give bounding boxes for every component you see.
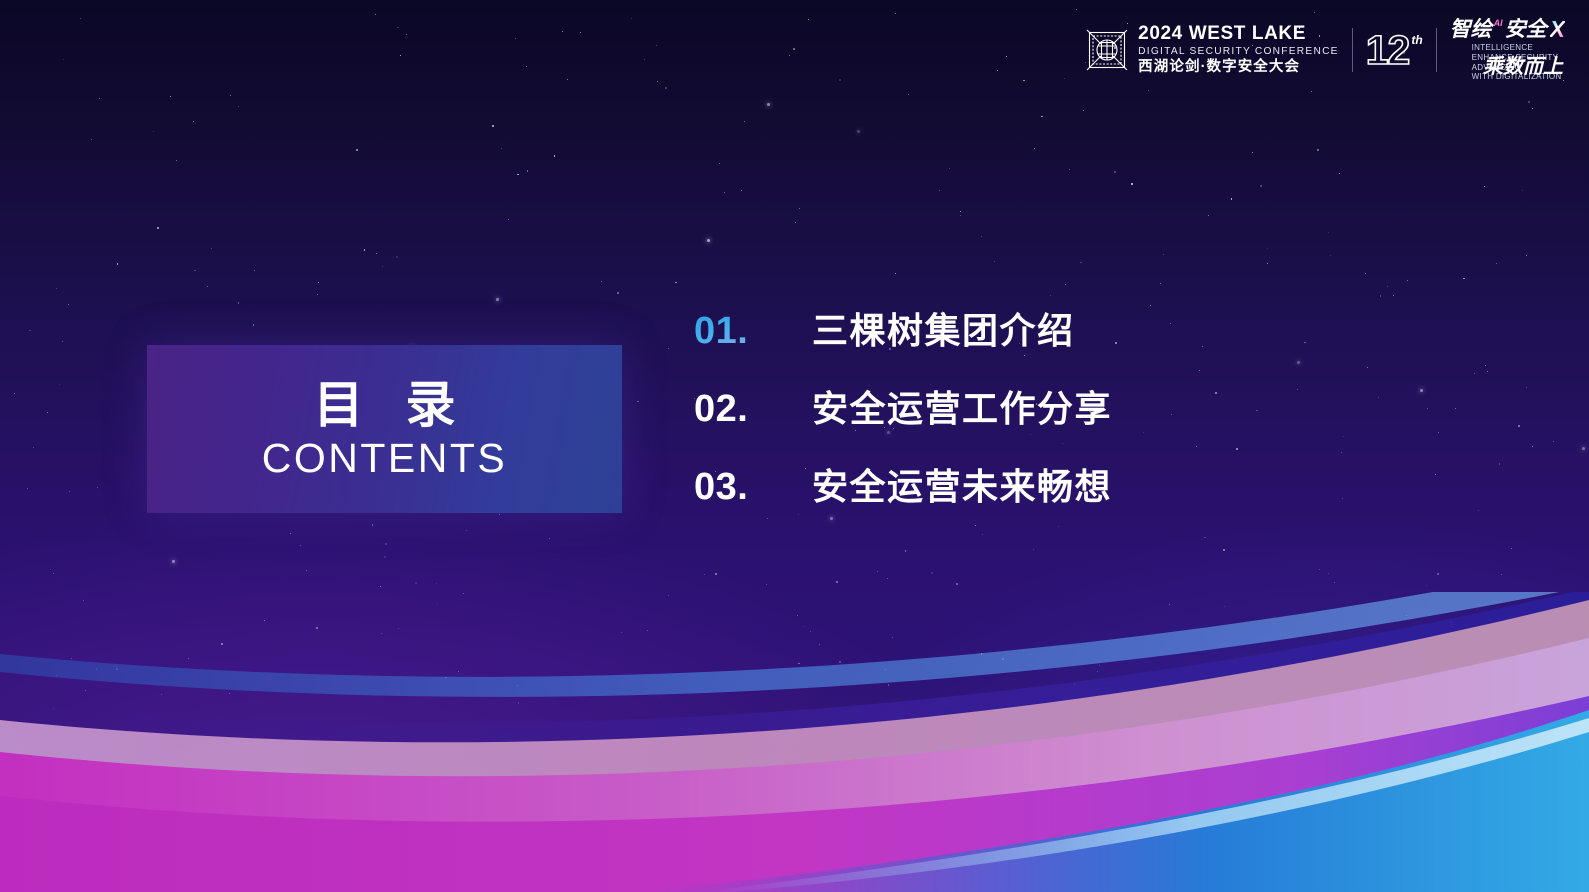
brand-line-1: 智绘 AI 安全 X bbox=[1450, 18, 1565, 41]
contents-panel: 目 录 CONTENTS bbox=[147, 345, 622, 513]
brand-prefix: 智绘 bbox=[1450, 19, 1492, 40]
toc-item-label: 安全运营未来畅想 bbox=[812, 468, 1112, 506]
contents-title-cn: 目 录 bbox=[300, 380, 470, 430]
toc-item-number: 02. bbox=[694, 390, 812, 430]
toc-item[interactable]: 02. 安全运营工作分享 bbox=[694, 390, 1112, 430]
conference-title-en: 2024 WEST LAKE bbox=[1138, 24, 1339, 43]
brand-line-2: 乘数而上 bbox=[1483, 57, 1563, 77]
presentation-slide: 2024 WEST LAKE DIGITAL SECURITY CONFEREN… bbox=[0, 0, 1589, 892]
toc-item-label: 三棵树集团介绍 bbox=[812, 312, 1075, 350]
toc-item[interactable]: 03. 安全运营未来畅想 bbox=[694, 468, 1112, 508]
toc-item-label: 安全运营工作分享 bbox=[812, 390, 1112, 428]
brand-slogan-logo: 智绘 AI 安全 X INTELLIGENCE ENHANCE SECURITY… bbox=[1450, 24, 1565, 76]
brand-mid: 安全 bbox=[1505, 19, 1547, 40]
brand-subtext-line-1: INTELLIGENCE bbox=[1472, 43, 1565, 53]
edition-ordinal: th bbox=[1411, 33, 1422, 47]
conference-title-cn: 西湖论剑·数字安全大会 bbox=[1138, 59, 1339, 76]
toc-item[interactable]: 01. 三棵树集团介绍 bbox=[694, 312, 1112, 352]
conference-subtitle-en: DIGITAL SECURITY CONFERENCE bbox=[1138, 44, 1339, 59]
bottom-wave-decoration bbox=[0, 592, 1589, 892]
brand-x-mark: X bbox=[1550, 18, 1565, 41]
contents-title-en: CONTENTS bbox=[262, 438, 508, 479]
edition-badge: 12 th bbox=[1366, 30, 1423, 71]
edition-number: 12 bbox=[1366, 30, 1410, 71]
table-of-contents: 01. 三棵树集团介绍 02. 安全运营工作分享 03. 安全运营未来畅想 bbox=[694, 312, 1112, 508]
conference-logo: 2024 WEST LAKE DIGITAL SECURITY CONFEREN… bbox=[1085, 24, 1339, 75]
toc-item-number: 03. bbox=[694, 468, 812, 508]
west-lake-seal-icon bbox=[1085, 28, 1129, 72]
brand-ai-mark: AI bbox=[1494, 19, 1503, 28]
brand-line-2-text: 乘数而上 bbox=[1483, 57, 1563, 77]
logo-divider-2 bbox=[1436, 28, 1437, 72]
toc-item-number: 01. bbox=[694, 312, 812, 352]
header-logo-lockup: 2024 WEST LAKE DIGITAL SECURITY CONFEREN… bbox=[1085, 22, 1565, 78]
logo-divider-1 bbox=[1352, 28, 1353, 72]
